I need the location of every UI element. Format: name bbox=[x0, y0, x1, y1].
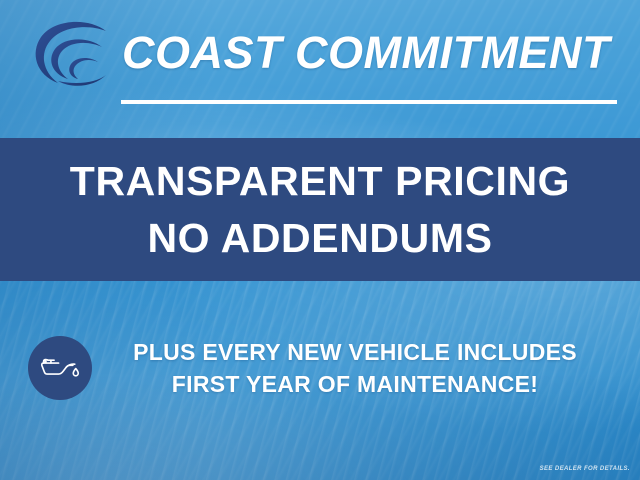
banner-header: COAST COMMITMENT bbox=[0, 0, 640, 138]
message-line-1: TRANSPARENT PRICING bbox=[70, 153, 570, 210]
message-line-2: NO ADDENDUMS bbox=[147, 210, 492, 267]
promo-line-1: PLUS EVERY NEW VEHICLE INCLUDES bbox=[110, 336, 600, 368]
page-title: COAST COMMITMENT bbox=[122, 22, 622, 84]
message-band: TRANSPARENT PRICING NO ADDENDUMS bbox=[0, 138, 640, 281]
oil-can-icon bbox=[39, 351, 81, 385]
coast-wave-swirl-logo-icon bbox=[28, 17, 114, 89]
promo-text-block: PLUS EVERY NEW VEHICLE INCLUDES FIRST YE… bbox=[110, 336, 600, 400]
header-divider bbox=[121, 100, 617, 104]
promo-row: PLUS EVERY NEW VEHICLE INCLUDES FIRST YE… bbox=[0, 318, 640, 418]
disclaimer-text: SEE DEALER FOR DETAILS. bbox=[540, 466, 630, 472]
coast-commitment-banner: COAST COMMITMENT TRANSPARENT PRICING NO … bbox=[0, 0, 640, 480]
promo-line-2: FIRST YEAR OF MAINTENANCE! bbox=[110, 368, 600, 400]
oil-can-icon-badge bbox=[28, 336, 92, 400]
